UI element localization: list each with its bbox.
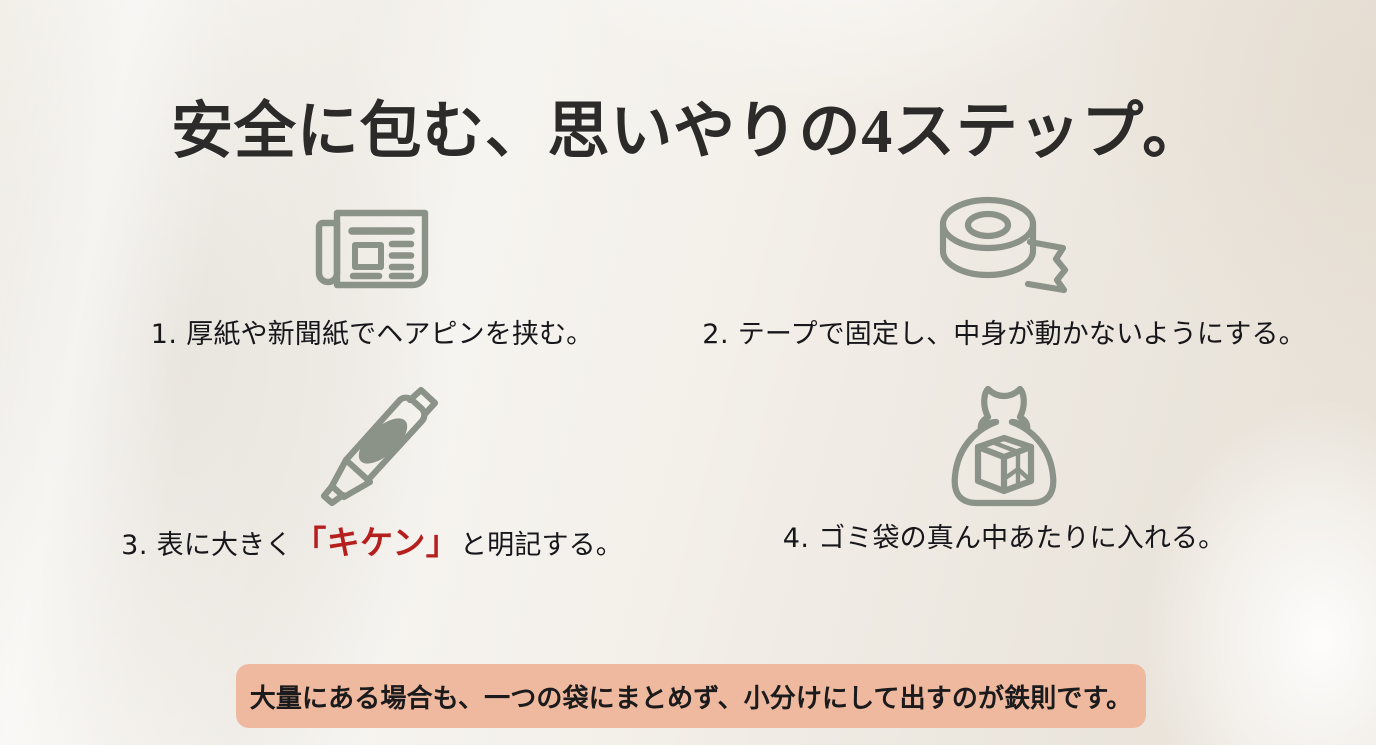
step-item-3: 3. 表に大きく「キケン」と明記する。 [60,382,684,576]
step-number-4: 4. [783,523,810,554]
step-label-1: 1. 厚紙や新聞紙でヘアピンを挟む。 [151,318,594,352]
step-label-2: 2. テープで固定し、中身が動かないようにする。 [702,318,1306,352]
step-text-3-before: 表に大きく [148,530,292,561]
step-number-3: 3. [121,530,148,561]
step-item-1: 1. 厚紙や新聞紙でヘアピンを挟む。 [60,178,684,372]
steps-grid: 1. 厚紙や新聞紙でヘアピンを挟む。 2. テープで固定し、中身が動かないように… [60,178,1316,576]
tip-banner: 大量にある場合も、一つの袋にまとめず、小分けにして出すのが鉄則です。 [236,664,1146,728]
garbage-bag-icon [940,382,1068,510]
marker-pen-icon [306,382,438,510]
step-text-3-after: と明記する。 [460,530,623,561]
step-label-3: 3. 表に大きく「キケン」と明記する。 [121,522,623,563]
newspaper-icon [307,178,437,306]
step-number-1: 1. [151,319,178,350]
step-text-1: 厚紙や新聞紙でヘアピンを挟む。 [178,319,594,350]
step-number-2: 2. [702,319,729,350]
tape-roll-icon [929,178,1079,306]
step-text-3-highlight: 「キケン」 [292,523,460,562]
step-text-4: ゴミ袋の真ん中あたりに入れる。 [810,523,1226,554]
step-label-4: 4. ゴミ袋の真ん中あたりに入れる。 [783,522,1226,556]
step-text-2: テープで固定し、中身が動かないようにする。 [729,319,1306,350]
step-item-2: 2. テープで固定し、中身が動かないようにする。 [692,178,1316,372]
tip-banner-text: 大量にある場合も、一つの袋にまとめず、小分けにして出すのが鉄則です。 [250,678,1132,715]
page-title: 安全に包む、思いやりの4ステップ。 [0,98,1376,167]
step-item-4: 4. ゴミ袋の真ん中あたりに入れる。 [692,382,1316,576]
infographic-slide: 安全に包む、思いやりの4ステップ。 [0,0,1376,745]
